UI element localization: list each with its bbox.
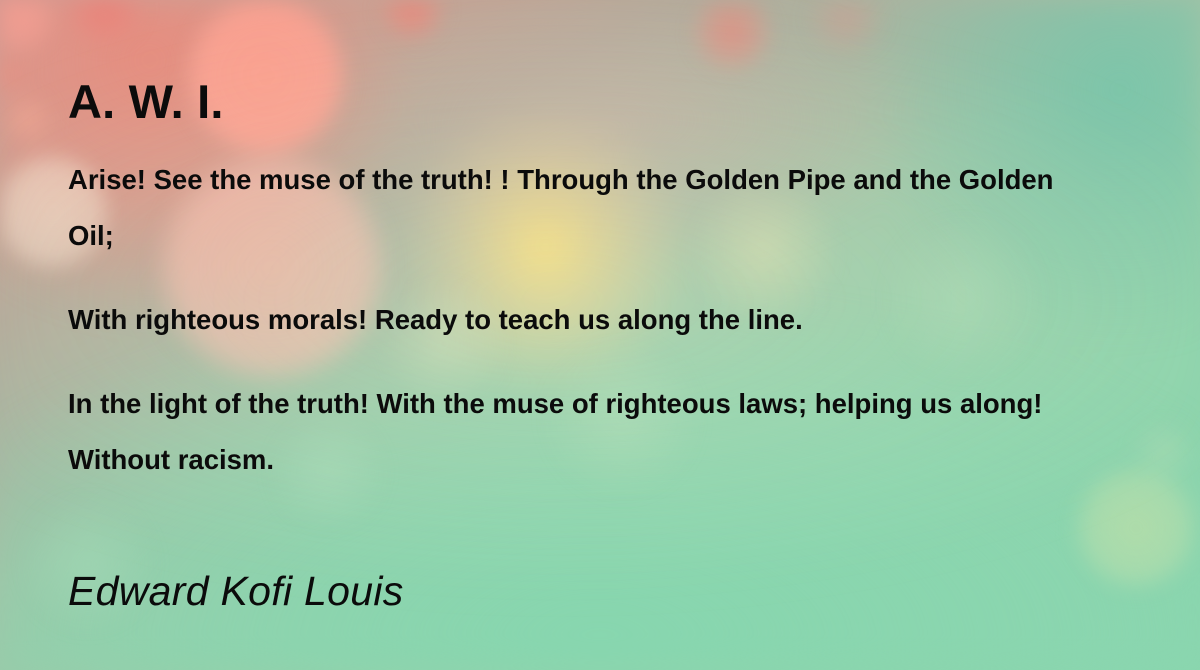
poem-line: In the light of the truth! With the muse… xyxy=(68,388,913,419)
poem-title: A. W. I. xyxy=(68,77,224,126)
poem-content: A. W. I. Arise! See the muse of the trut… xyxy=(0,0,1200,670)
poem-stanza: Arise! See the muse of the truth! ! Thro… xyxy=(68,152,1098,264)
poem-stanza: With righteous morals! Ready to teach us… xyxy=(68,292,1098,348)
poem-image-card: A. W. I. Arise! See the muse of the trut… xyxy=(0,0,1200,670)
poem-author-byline: Edward Kofi Louis xyxy=(68,568,404,615)
poem-line: With righteous morals! Ready to teach us… xyxy=(68,304,803,335)
poem-line: Arise! See the muse of the truth! ! Thro… xyxy=(68,164,902,195)
poem-body: Arise! See the muse of the truth! ! Thro… xyxy=(68,152,1098,488)
poem-stanza: In the light of the truth! With the muse… xyxy=(68,376,1098,488)
